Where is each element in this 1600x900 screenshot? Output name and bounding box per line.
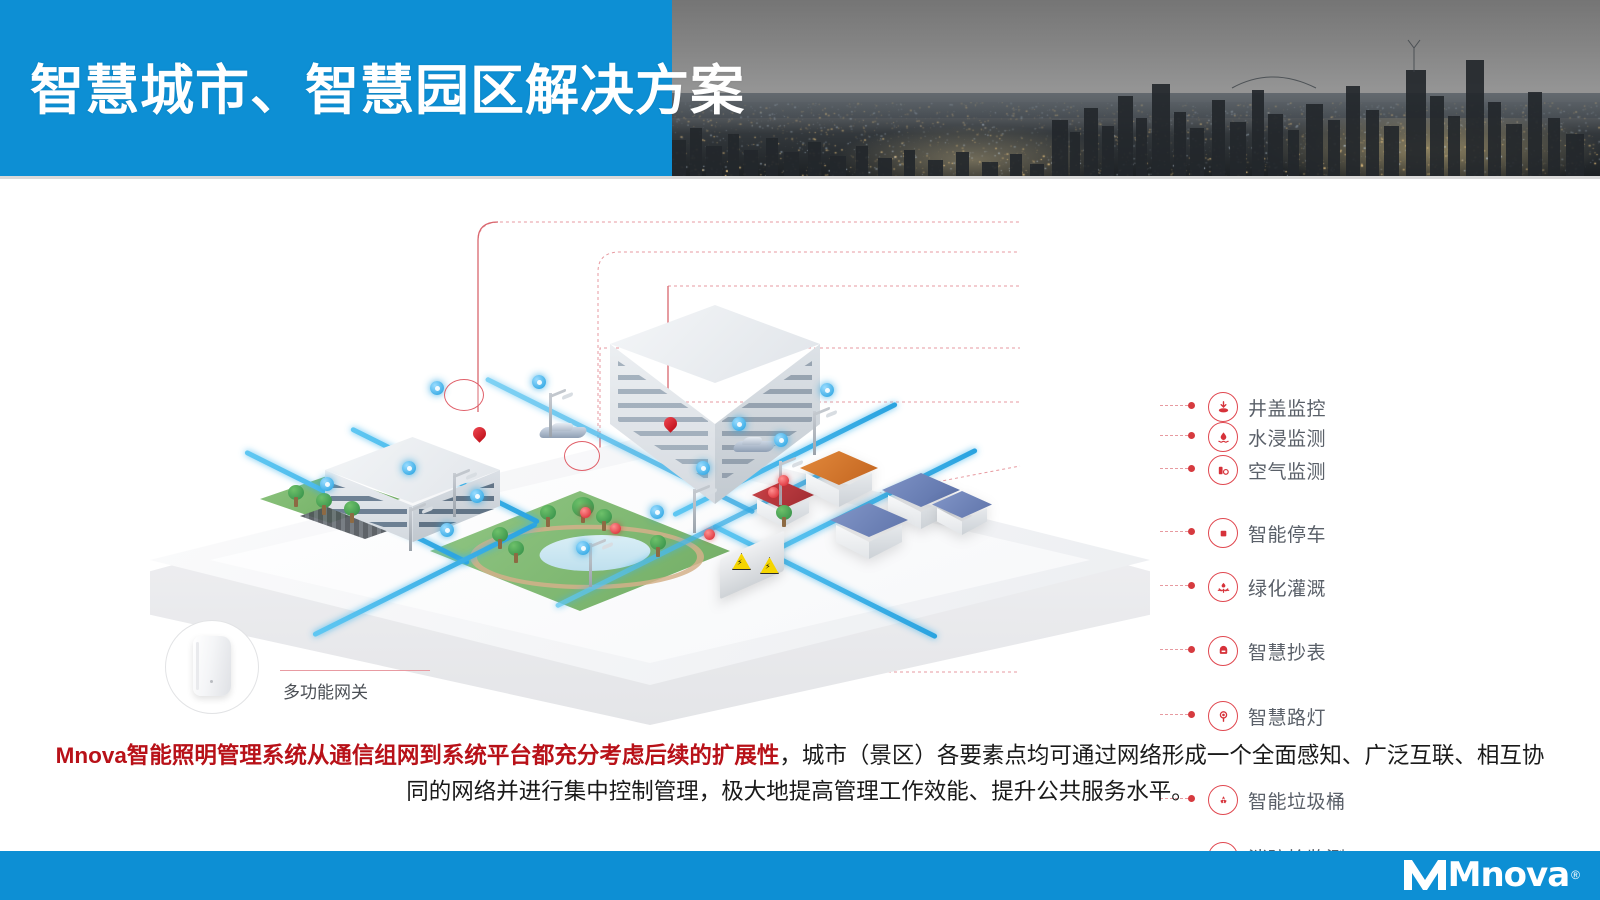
legend-dash xyxy=(1160,468,1188,469)
caption-paragraph: Mnova智能照明管理系统从通信组网到系统平台都充分考虑后续的扩展性，城市（景区… xyxy=(48,738,1552,811)
legend-dot xyxy=(1188,528,1195,535)
street-lamp xyxy=(396,499,426,551)
smart-meter-icon xyxy=(1208,636,1238,666)
map-pin[interactable] xyxy=(664,417,677,436)
smart-parking-icon xyxy=(1208,518,1238,548)
caption-highlight: Mnova智能照明管理系统从通信组网到系统平台都充分考虑后续的扩展性 xyxy=(56,743,780,768)
legend-dot xyxy=(1188,646,1195,653)
highlight-ring xyxy=(564,441,600,471)
legend-label: 智能停车 xyxy=(1248,520,1326,547)
street-lamp xyxy=(680,481,710,533)
gateway-leader-line xyxy=(280,670,430,671)
logo-text: Mnova xyxy=(1448,855,1570,895)
alert-marker[interactable] xyxy=(778,475,789,486)
tree xyxy=(288,485,304,507)
legend-dash xyxy=(1160,405,1188,406)
slide-root: 智慧城市、智慧园区解决方案 xyxy=(0,0,1600,900)
street-lamp xyxy=(536,385,566,437)
legend-dot xyxy=(1188,711,1195,718)
alert-marker[interactable] xyxy=(768,487,779,498)
alert-marker[interactable] xyxy=(580,507,591,518)
car-cabin xyxy=(741,437,763,445)
sensor-node[interactable] xyxy=(402,461,416,475)
sensor-node[interactable] xyxy=(732,417,746,431)
street-lamp xyxy=(440,465,470,517)
sensor-node[interactable] xyxy=(650,505,664,519)
sensor-node[interactable] xyxy=(576,541,590,555)
sensor-node[interactable] xyxy=(440,523,454,537)
house-blue-c xyxy=(932,491,992,539)
legend-label: 智慧抄表 xyxy=(1248,638,1326,665)
legend-dot xyxy=(1188,432,1195,439)
sensor-node[interactable] xyxy=(532,375,546,389)
tree xyxy=(776,505,792,527)
map-pin[interactable] xyxy=(473,427,486,446)
water-immersion-icon xyxy=(1208,422,1238,452)
legend-dash xyxy=(1160,714,1188,715)
header-divider xyxy=(0,176,1600,179)
street-lamp-icon xyxy=(1208,701,1238,731)
gateway-label: 多功能网关 xyxy=(283,678,368,703)
sensor-node[interactable] xyxy=(320,477,334,491)
house-blue-b xyxy=(830,503,908,565)
alert-marker[interactable] xyxy=(704,529,715,540)
legend-label: 空气监测 xyxy=(1248,457,1326,484)
skyline-silhouette xyxy=(672,0,1600,176)
gateway-callout: 多功能网关 xyxy=(165,620,465,720)
legend-dash xyxy=(1160,649,1188,650)
legend-dash xyxy=(1160,531,1188,532)
brand-logo: Mnova ® xyxy=(1402,856,1580,894)
sensor-node[interactable] xyxy=(774,433,788,447)
tree xyxy=(344,501,360,523)
logo-registered-icon: ® xyxy=(1571,868,1580,882)
legend-dot xyxy=(1188,582,1195,589)
tree xyxy=(540,505,556,527)
street-lamp xyxy=(800,403,830,455)
highlight-ring xyxy=(444,379,484,411)
legend-list: 井盖监控 水浸监测 空气监测 xyxy=(1160,360,1590,900)
header: 智慧城市、智慧园区解决方案 xyxy=(0,0,1600,176)
footer-bar xyxy=(0,851,1600,900)
tree xyxy=(316,493,332,515)
sensor-node[interactable] xyxy=(430,381,444,395)
diagram-area: 多功能网关 井盖监控 水浸监测 xyxy=(0,180,1600,725)
legend-dot xyxy=(1188,402,1195,409)
tree xyxy=(508,541,524,563)
legend-dot xyxy=(1188,465,1195,472)
tree xyxy=(492,527,508,549)
tree xyxy=(650,535,666,557)
irrigation-icon xyxy=(1208,572,1238,602)
page-title: 智慧城市、智慧园区解决方案 xyxy=(30,46,745,125)
legend-dash xyxy=(1160,585,1188,586)
sensor-node[interactable] xyxy=(470,489,484,503)
header-city-photo xyxy=(672,0,1600,176)
sensor-node[interactable] xyxy=(820,383,834,397)
legend-label: 绿化灌溉 xyxy=(1248,574,1326,601)
sensor-node[interactable] xyxy=(696,461,710,475)
legend-label: 水浸监测 xyxy=(1248,424,1326,451)
alert-marker[interactable] xyxy=(610,523,621,534)
legend-label: 井盖监控 xyxy=(1248,394,1326,421)
air-quality-icon xyxy=(1208,455,1238,485)
logo-mark-icon xyxy=(1402,858,1448,892)
manhole-cover-icon xyxy=(1208,392,1238,422)
legend-label: 智慧路灯 xyxy=(1248,703,1326,730)
gateway-device-icon xyxy=(193,636,231,696)
legend-dash xyxy=(1160,435,1188,436)
